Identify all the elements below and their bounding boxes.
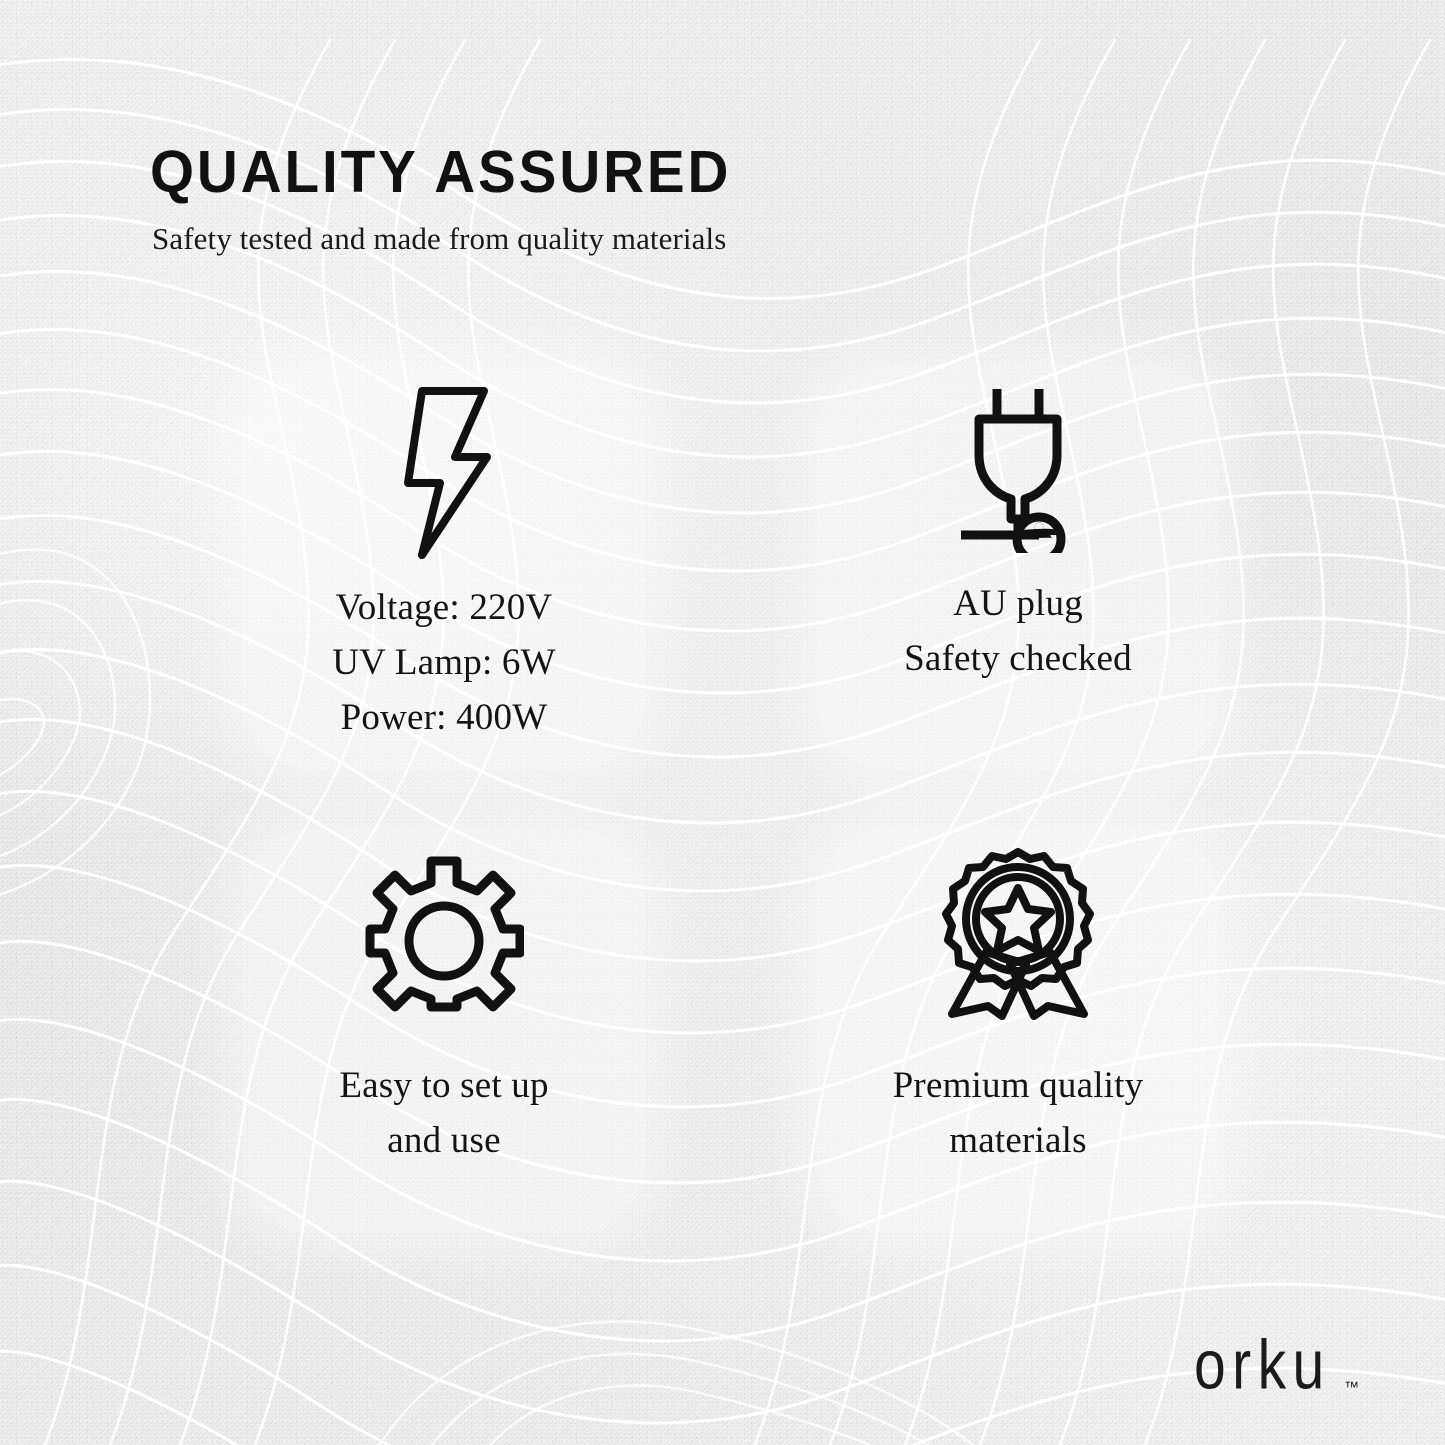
feature-card-specifications: Voltage: 220V UV Lamp: 6W Power: 400W [243, 365, 645, 770]
feature-card-text: Easy to set up and use [243, 1058, 645, 1168]
award-badge-icon [817, 828, 1219, 1040]
brand-logo: orku ™ [1194, 1339, 1359, 1401]
feature-card-text: AU plug Safety checked [817, 576, 1219, 686]
trademark-symbol: ™ [1344, 1380, 1359, 1395]
page-title: QUALITY ASSURED [150, 142, 1014, 202]
feature-card-text: Premium quality materials [817, 1058, 1219, 1168]
feature-card-text: Voltage: 220V UV Lamp: 6W Power: 400W [243, 580, 645, 745]
page-subtitle: Safety tested and made from quality mate… [152, 220, 1050, 258]
feature-card-premium-materials: Premium quality materials [817, 828, 1219, 1233]
header: QUALITY ASSURED Safety tested and made f… [150, 142, 1050, 258]
infographic-canvas: QUALITY ASSURED Safety tested and made f… [0, 0, 1445, 1445]
feature-card-grid: Voltage: 220V UV Lamp: 6W Power: 400W [243, 365, 1203, 1233]
gear-icon [243, 828, 645, 1040]
feature-card-au-plug: AU plug Safety checked [817, 365, 1219, 770]
power-plug-icon [817, 365, 1219, 570]
feature-card-easy-setup: Easy to set up and use [243, 828, 645, 1233]
brand-name: orku [1194, 1332, 1331, 1401]
lightning-bolt-icon [243, 365, 645, 580]
